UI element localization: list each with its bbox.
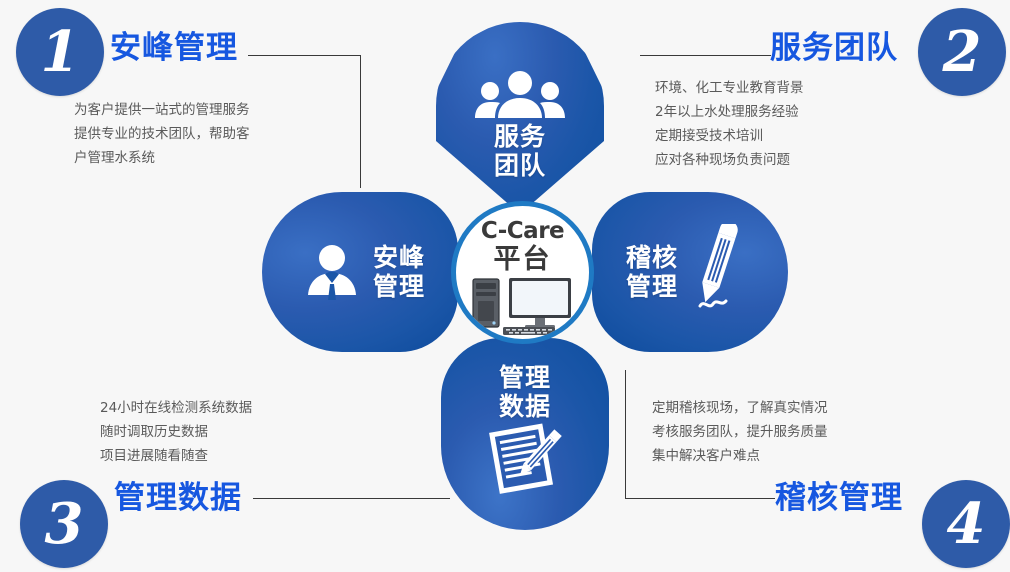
description-line: 考核服务团队，提升服务质量 (652, 420, 828, 444)
pencil-icon (686, 224, 748, 320)
section-description-4: 定期稽核现场，了解真实情况 考核服务团队，提升服务质量 集中解决客户难点 (652, 396, 828, 468)
connector-line-1-vertical (360, 55, 361, 188)
description-line: 应对各种现场负责问题 (655, 148, 804, 172)
petal-audit-management[interactable]: 稽核 管理 (592, 192, 788, 352)
description-line: 提供专业的技术团队，帮助客 (74, 122, 250, 146)
petal-label-line-1: 稽核 (626, 243, 678, 272)
petal-audit-management-label: 稽核 管理 (626, 243, 678, 301)
petal-label-line-2: 数据 (499, 392, 551, 421)
petal-label-line-1: 管理 (499, 363, 551, 392)
connector-line-1-horizontal (248, 55, 361, 56)
badge-number-3-label: 3 (45, 496, 84, 552)
connector-line-4-horizontal (625, 498, 775, 499)
infographic-canvas: 1 2 3 4 安峰管理 服务团队 管理数据 稽核管理 为客户提供一站式的管理服… (0, 0, 1010, 572)
badge-number-4-label: 4 (947, 496, 986, 552)
section-title-3: 管理数据 (114, 472, 242, 517)
description-line: 户管理水系统 (74, 146, 250, 170)
petal-label-line-1: 安峰 (373, 243, 425, 272)
petal-label-line-2: 管理 (373, 272, 425, 301)
connector-line-4-vertical (625, 370, 626, 499)
businessman-icon (301, 241, 363, 303)
description-line: 24小时在线检测系统数据 (100, 396, 252, 420)
petal-label-line-2: 团队 (494, 151, 546, 180)
petal-anfeng-management[interactable]: 安峰 管理 (262, 192, 458, 352)
description-line: 随时调取历史数据 (100, 420, 252, 444)
badge-number-4: 4 (922, 480, 1010, 568)
section-title-2: 服务团队 (770, 22, 898, 67)
badge-number-3: 3 (20, 480, 108, 568)
desktop-computer-icon (469, 275, 577, 341)
description-line: 2年以上水处理服务经验 (655, 100, 804, 124)
description-line: 项目进展随看随查 (100, 444, 252, 468)
description-line: 为客户提供一站式的管理服务 (74, 98, 250, 122)
section-description-2: 环境、化工专业教育背景 2年以上水处理服务经验 定期接受技术培训 应对各种现场负… (655, 76, 804, 172)
people-group-icon (474, 70, 566, 122)
petal-label-line-1: 服务 (494, 122, 546, 151)
petal-anfeng-management-label: 安峰 管理 (373, 243, 425, 301)
description-line: 定期稽核现场，了解真实情况 (652, 396, 828, 420)
badge-number-1-label: 1 (41, 24, 80, 80)
petal-service-team-label: 服务 团队 (494, 122, 546, 180)
badge-number-2-label: 2 (943, 24, 982, 80)
badge-number-1: 1 (16, 8, 104, 96)
petal-management-data[interactable]: 管理 数据 (441, 338, 609, 530)
connector-line-3-horizontal (253, 498, 450, 499)
description-line: 集中解决客户难点 (652, 444, 828, 468)
petal-management-data-label: 管理 数据 (499, 363, 551, 421)
section-description-3: 24小时在线检测系统数据 随时调取历史数据 项目进展随看随查 (100, 396, 252, 468)
section-title-1: 安峰管理 (110, 22, 238, 67)
description-line: 环境、化工专业教育背景 (655, 76, 804, 100)
hub-title-chinese: 平台 (494, 246, 552, 273)
section-description-1: 为客户提供一站式的管理服务 提供专业的技术团队，帮助客 户管理水系统 (74, 98, 250, 170)
clipboard-pencil-icon (486, 421, 564, 495)
petal-service-team[interactable]: 服务 团队 (436, 22, 604, 214)
petal-label-line-2: 管理 (626, 272, 678, 301)
description-line: 定期接受技术培训 (655, 124, 804, 148)
connector-line-2-horizontal (640, 55, 771, 56)
center-hub-c-care-platform[interactable]: C-Care 平台 (451, 201, 594, 344)
badge-number-2: 2 (918, 8, 1006, 96)
hub-title-english: C-Care (481, 220, 564, 243)
section-title-4: 稽核管理 (775, 472, 903, 517)
